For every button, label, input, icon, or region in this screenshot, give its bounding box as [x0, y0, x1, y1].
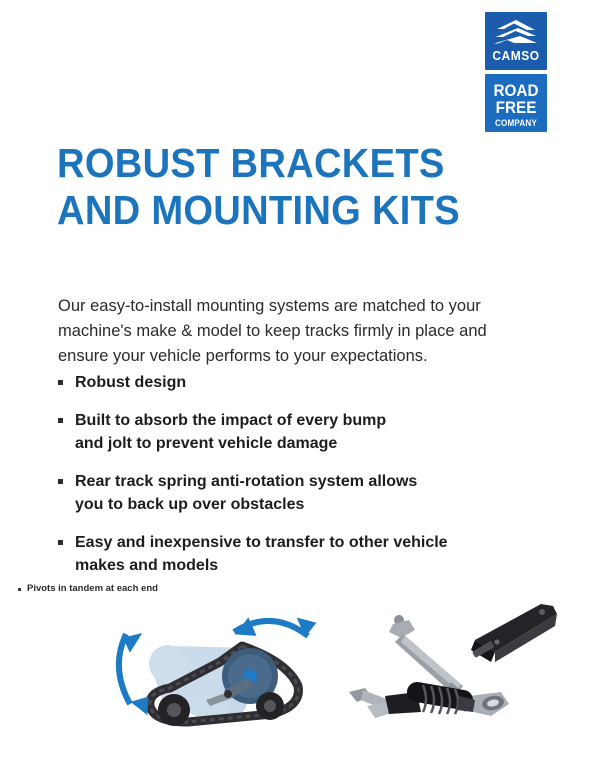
track-diagram-graphic [112, 606, 342, 741]
list-item: Rear track spring anti-rotation system a… [58, 470, 528, 516]
vertical-double-arrow [119, 627, 152, 715]
camso-logo-badge: CAMSO [485, 12, 547, 70]
mounting-hardware-parts-photo [345, 600, 560, 735]
horizontal-double-arrow [231, 614, 316, 642]
intro-paragraph: Our easy-to-install mounting systems are… [58, 294, 528, 369]
square-bullet-icon [58, 418, 63, 423]
black-mounting-bracket [471, 604, 557, 662]
square-bullet-icon [18, 588, 21, 591]
parts-graphic [345, 600, 560, 735]
track-spring-assembly [349, 685, 475, 718]
brand-logo-stack: CAMSO ROAD FREE COMPANY [485, 12, 547, 132]
page-title: ROBUST BRACKETS AND MOUNTING KITS [57, 140, 494, 234]
list-item: Robust design [58, 371, 528, 394]
bullet-text: Easy and inexpensive to transfer to othe… [75, 531, 448, 577]
road-free-line-3: COMPANY [488, 119, 544, 128]
list-item: Easy and inexpensive to transfer to othe… [58, 531, 528, 577]
figure-caption: Pivots in tandem at each end [18, 582, 158, 595]
coil-spring [417, 685, 463, 714]
figure-caption-text: Pivots in tandem at each end [27, 582, 158, 595]
list-item: Built to absorb the impact of every bump… [58, 409, 528, 455]
camso-swoosh-icon [494, 19, 538, 45]
square-bullet-icon [58, 540, 63, 545]
marketing-page: CAMSO ROAD FREE COMPANY ROBUST BRACKETS … [0, 0, 600, 767]
page-title-line-2: AND MOUNTING KITS [57, 187, 494, 234]
road-free-line-1: ROAD [488, 82, 544, 99]
bullet-text: Rear track spring anti-rotation system a… [75, 470, 417, 516]
square-bullet-icon [58, 380, 63, 385]
camso-wordmark: CAMSO [487, 48, 544, 63]
road-free-wordmark: ROAD FREE COMPANY [485, 82, 547, 128]
rubber-track-system-pivot-diagram [112, 606, 342, 741]
page-title-line-1: ROBUST BRACKETS [57, 140, 494, 187]
road-free-company-badge: ROAD FREE COMPANY [485, 74, 547, 132]
bullet-text: Built to absorb the impact of every bump… [75, 409, 386, 455]
square-bullet-icon [58, 479, 63, 484]
road-free-line-2: FREE [488, 99, 544, 116]
feature-bullet-list: Robust design Built to absorb the impact… [58, 371, 528, 577]
bullet-text: Robust design [75, 371, 186, 394]
